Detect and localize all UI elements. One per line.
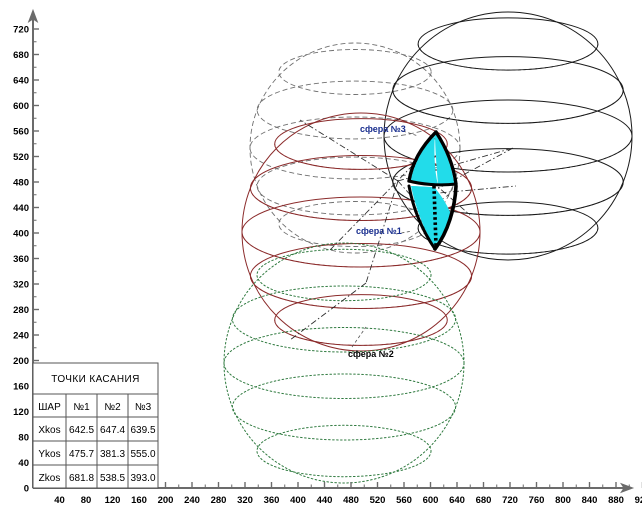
x-tick-label: 80 [81, 495, 92, 506]
y-tick-label: 280 [13, 305, 29, 316]
table-cell: 393.0 [130, 473, 155, 484]
table-header-cell: №2 [104, 402, 121, 413]
x-tick-label: 640 [449, 495, 465, 506]
sphere-1-label: сфера №1 [356, 226, 402, 236]
y-tick-label: 680 [13, 50, 29, 61]
table-row-label: Xkos [38, 425, 60, 436]
y-tick-label: 200 [13, 356, 29, 367]
x-tick-label: 280 [211, 495, 227, 506]
table-header-cell: №1 [73, 402, 90, 413]
x-tick-label: 120 [105, 495, 121, 506]
table-cell: 381.3 [100, 449, 125, 460]
y-tick-label: 600 [13, 101, 29, 112]
y-tick-label: 640 [13, 76, 29, 87]
y-tick-label: 560 [13, 127, 29, 138]
table-cell: 475.7 [69, 449, 94, 460]
table-cell: 647.4 [100, 425, 125, 436]
table-cell: 555.0 [130, 449, 155, 460]
sphere-intersection-plot: сфера №3 сфера №1 сфера №2 4080120160200… [0, 0, 642, 516]
contact-lens-region [409, 132, 456, 249]
x-tick-label: 800 [555, 495, 571, 506]
x-tick-label: 600 [423, 495, 439, 506]
y-tick-label: 120 [13, 407, 29, 418]
table-row-label: Ykos [38, 449, 60, 460]
x-tick-label: 840 [582, 495, 598, 506]
y-tick-label: 80 [18, 433, 29, 444]
sphere-green [224, 243, 464, 483]
x-tick-label: 680 [476, 495, 492, 506]
x-tick-label: 40 [54, 495, 65, 506]
x-tick-label: 360 [264, 495, 280, 506]
x-tick-label: 920 [635, 495, 642, 506]
y-tick-label: 0 [24, 484, 29, 495]
x-tick-label: 160 [131, 495, 147, 506]
x-tick-label: 880 [608, 495, 624, 506]
x-tick-label: 720 [502, 495, 518, 506]
x-tick-label: 400 [290, 495, 306, 506]
x-tick-label: 560 [396, 495, 412, 506]
y-tick-label: 360 [13, 254, 29, 265]
table-cell: 642.5 [69, 425, 94, 436]
table-cell: 538.5 [100, 473, 125, 484]
x-tick-label: 240 [184, 495, 200, 506]
x-tick-label: 200 [158, 495, 174, 506]
x-tick-label: 760 [529, 495, 545, 506]
leader-lines [352, 131, 418, 347]
y-tick-label: 320 [13, 280, 29, 291]
contact-points-table: ТОЧКИ КАСАНИЯ ШАР№1№2№3Xkos642.5647.4639… [33, 363, 158, 488]
y-tick-label: 520 [13, 152, 29, 163]
y-tick-label: 160 [13, 382, 29, 393]
table-cell: 681.8 [69, 473, 94, 484]
y-tick-label: 40 [18, 458, 29, 469]
y-tick-label: 400 [13, 229, 29, 240]
sphere-3-label: сфера №3 [360, 124, 406, 134]
sphere-2-label: сфера №2 [348, 349, 394, 359]
table-header-cell: №3 [135, 402, 152, 413]
table-header-cell: ШАР [38, 402, 61, 413]
y-tick-label: 720 [13, 25, 29, 36]
table-cell: 639.5 [130, 425, 155, 436]
figure-canvas: сфера №3 сфера №1 сфера №2 4080120160200… [0, 0, 642, 516]
x-tick-label: 520 [370, 495, 386, 506]
table-row-label: Zkos [39, 473, 61, 484]
x-tick-label: 440 [317, 495, 333, 506]
table-title: ТОЧКИ КАСАНИЯ [51, 374, 139, 385]
y-tick-label: 480 [13, 178, 29, 189]
x-tick-label: 320 [237, 495, 253, 506]
y-tick-label: 240 [13, 331, 29, 342]
y-tick-label: 440 [13, 203, 29, 214]
x-tick-label: 480 [343, 495, 359, 506]
